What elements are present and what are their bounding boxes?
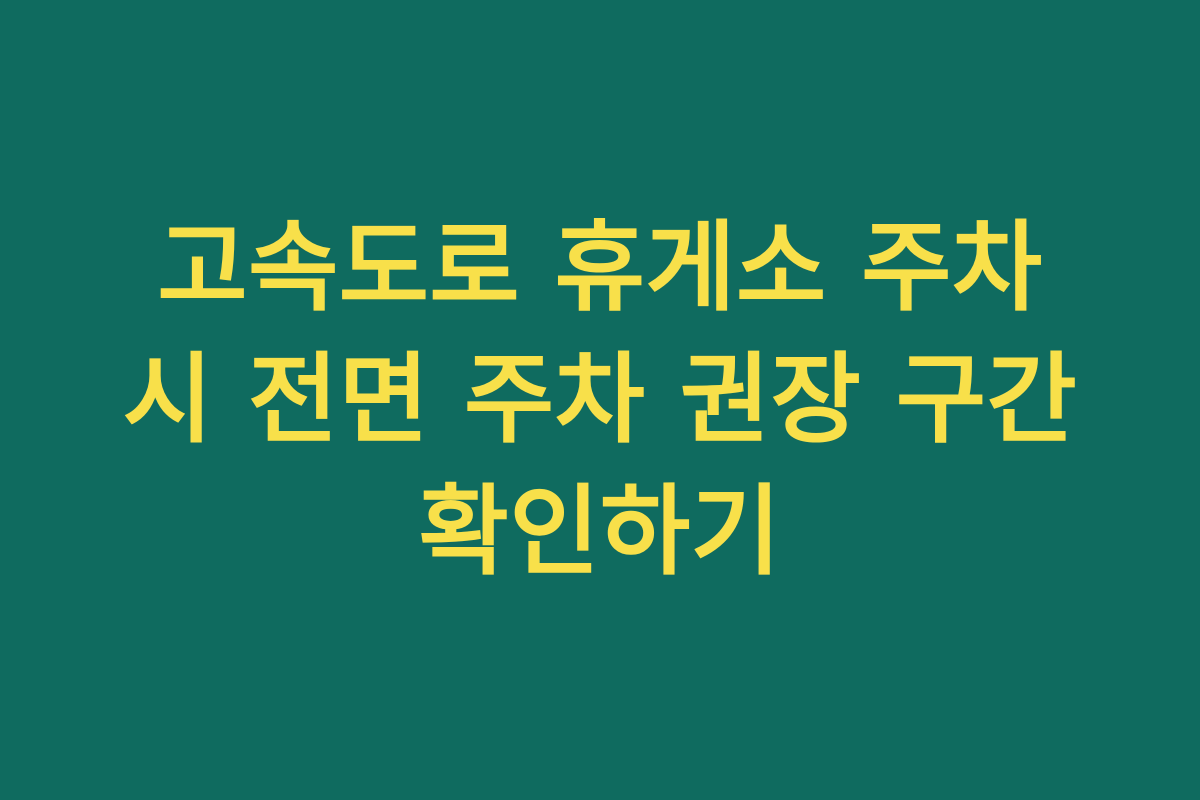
thumbnail-banner: 고속도로 휴게소 주차 시 전면 주차 권장 구간 확인하기 — [0, 0, 1200, 800]
headline-block: 고속도로 휴게소 주차 시 전면 주차 권장 구간 확인하기 — [95, 202, 1105, 598]
page-title: 고속도로 휴게소 주차 시 전면 주차 권장 구간 확인하기 — [95, 202, 1105, 598]
